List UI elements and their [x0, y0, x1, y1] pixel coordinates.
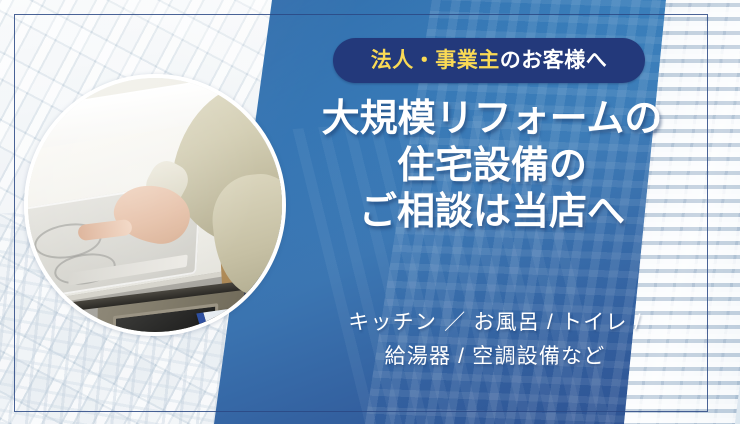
service-list-line-2: 給湯器 / 空調設備など — [290, 340, 700, 374]
audience-badge-rest: のお客様へ — [500, 49, 608, 72]
service-list-line-1: キッチン ／ お風呂 / トイレ / — [290, 306, 700, 340]
headline-line-2: 住宅設備の — [286, 143, 698, 190]
promo-banner: 法人・事業主のお客様へ 大規模リフォームの 住宅設備の ご相談は当店へ キッチン… — [0, 0, 740, 424]
audience-badge-highlight: 法人・事業主 — [371, 49, 500, 72]
service-list: キッチン ／ お風呂 / トイレ / 給湯器 / 空調設備など — [290, 306, 700, 374]
audience-badge-text: 法人・事業主のお客様へ — [371, 50, 608, 71]
photo-image — [28, 78, 282, 332]
headline-line-3: ご相談は当店へ — [286, 189, 698, 236]
photo-light-vignette — [28, 78, 282, 332]
audience-badge: 法人・事業主のお客様へ — [333, 38, 645, 83]
circular-photo — [24, 74, 286, 336]
headline-line-1: 大規模リフォームの — [286, 96, 698, 143]
headline: 大規模リフォームの 住宅設備の ご相談は当店へ — [286, 96, 698, 236]
